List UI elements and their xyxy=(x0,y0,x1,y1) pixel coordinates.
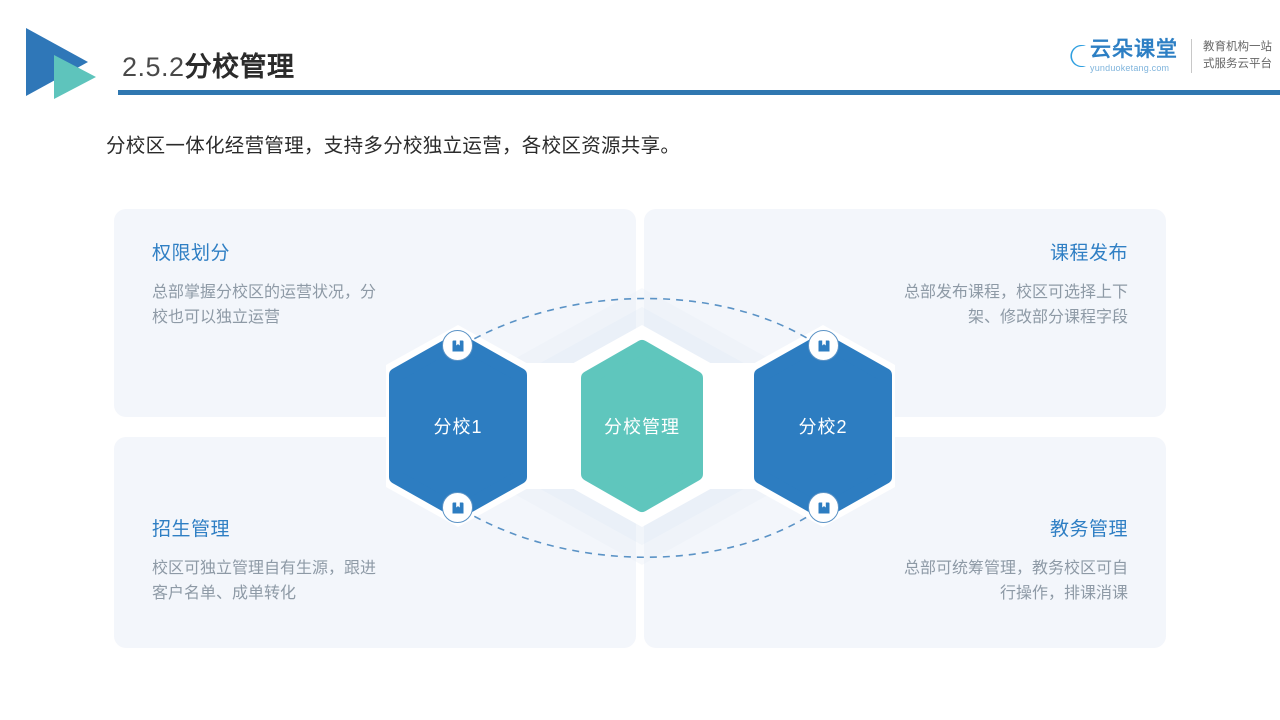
feature-title: 课程发布 xyxy=(1050,238,1128,265)
logo-name-cn: 云朵课堂 xyxy=(1090,39,1178,61)
book-icon xyxy=(817,501,831,515)
book-icon xyxy=(817,339,831,353)
feature-title: 教务管理 xyxy=(1050,514,1128,541)
hexagon-diagram: 分校1 分校管理 分校2 xyxy=(330,285,950,575)
badge-bottom-left xyxy=(442,492,473,523)
page-subtitle: 分校区一体化经营管理，支持多分校独立运营，各校区资源共享。 xyxy=(106,129,680,158)
feature-title: 权限划分 xyxy=(152,238,230,265)
feature-title: 招生管理 xyxy=(152,514,230,541)
triangle-teal-icon xyxy=(54,55,96,99)
book-icon xyxy=(451,339,465,353)
hexagon-label-branch1: 分校1 xyxy=(433,413,482,439)
badge-bottom-right xyxy=(808,492,839,523)
logo-tagline: 教育机构一站 式服务云平台 xyxy=(1203,39,1272,74)
title-underline-rule xyxy=(118,90,1280,95)
hexagon-label-branch2: 分校2 xyxy=(798,413,847,439)
logo-divider xyxy=(1191,39,1192,73)
corporate-logo: 云朵课堂 yunduoketang.com 教育机构一站 式服务云平台 xyxy=(1060,30,1272,82)
hexagon-label-center: 分校管理 xyxy=(604,413,680,439)
page-title: 2.5.2分校管理 xyxy=(122,45,295,84)
logo-wordmark: 云朵课堂 yunduoketang.com xyxy=(1090,39,1178,72)
badge-top-right xyxy=(808,330,839,361)
page-header: 2.5.2分校管理 云朵课堂 yunduoketang.com 教育机构一站 式… xyxy=(0,0,1280,110)
play-triangle-logo xyxy=(26,28,112,100)
book-icon xyxy=(451,501,465,515)
page-title-name: 分校管理 xyxy=(185,52,295,82)
page-title-number: 2.5.2 xyxy=(122,52,185,82)
badge-top-left xyxy=(442,330,473,361)
cloud-icon xyxy=(1060,39,1096,73)
logo-domain: yunduoketang.com xyxy=(1090,63,1169,73)
